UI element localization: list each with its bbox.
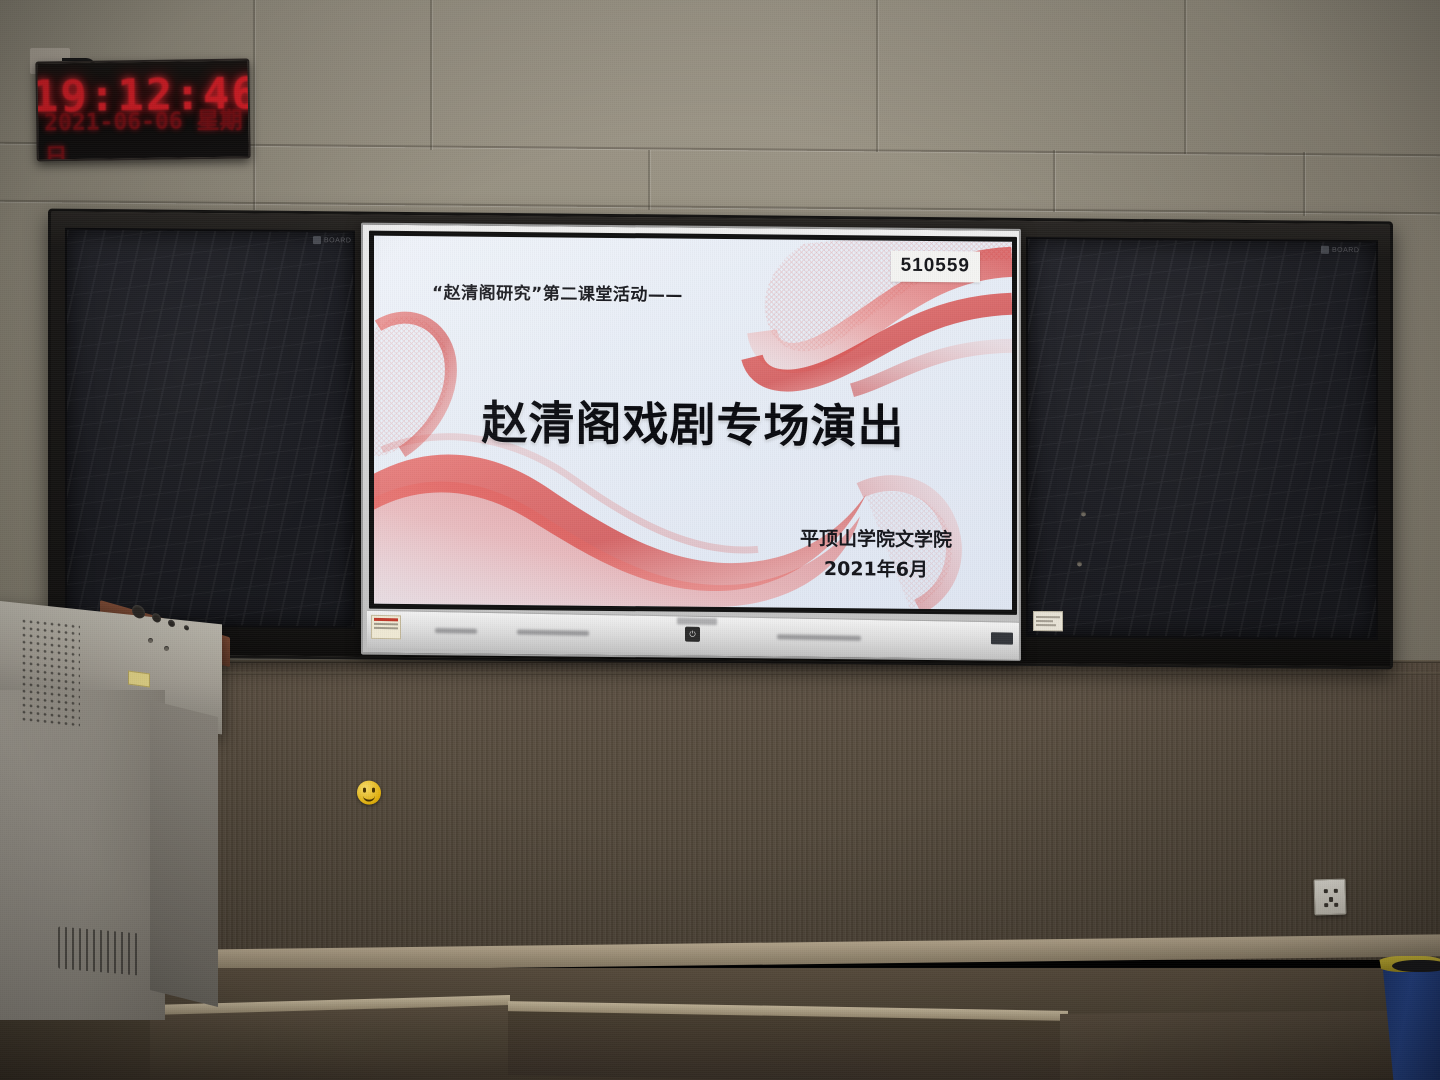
desk-far-right xyxy=(1060,1010,1440,1080)
podium-asset-tag xyxy=(128,670,150,687)
desk-face-left xyxy=(150,1005,510,1080)
podium-speaker-grille-icon xyxy=(22,619,80,729)
panel-power-button[interactable]: ⏻ xyxy=(685,627,700,642)
blackboard-assembly-frame: BOARD BOARD xyxy=(48,209,1393,670)
right-board-brand-icon: BOARD xyxy=(1321,246,1359,254)
led-wall-clock: 19:12:46 2021-06-06 星期日 xyxy=(35,59,250,162)
panel-io-port[interactable] xyxy=(991,632,1013,644)
right-chalkboard[interactable] xyxy=(1026,237,1378,640)
panel-power-label xyxy=(677,617,717,625)
left-board-brand-icon: BOARD xyxy=(313,236,351,244)
wall-power-socket[interactable] xyxy=(1314,879,1347,916)
slide-subtitle: “赵清阁研究”第二课堂活动—— xyxy=(432,278,683,305)
clock-date-display: 2021-06-06 星期日 xyxy=(44,119,249,154)
trash-bin-opening xyxy=(1392,960,1440,972)
right-board-asset-label xyxy=(1033,611,1063,631)
slide-title: 赵清阁戏剧专场演出 xyxy=(374,386,1012,458)
slide-organization: 平顶山学院文学院 xyxy=(800,524,952,552)
podium-side-panel xyxy=(150,700,218,1007)
smiley-sticker xyxy=(357,781,381,805)
presentation-slide: “赵清阁研究”第二课堂活动—— 赵清阁戏剧专场演出 平顶山学院文学院 2021年… xyxy=(374,236,1012,610)
slide-date: 2021年6月 xyxy=(824,554,928,582)
classroom-scene: 19:12:46 2021-06-06 星期日 BOARD BOARD xyxy=(0,0,1440,1080)
slide-code-label: 510559 xyxy=(891,251,980,283)
display-bezel: “赵清阁研究”第二课堂活动—— 赵清阁戏剧专场演出 平顶山学院文学院 2021年… xyxy=(369,231,1017,615)
panel-bottom-toolbar[interactable]: ⏻ xyxy=(367,610,1019,660)
podium-vent-slots xyxy=(58,926,140,975)
interactive-flat-panel[interactable]: “赵清阁研究”第二课堂活动—— 赵清阁戏剧专场演出 平顶山学院文学院 2021年… xyxy=(361,223,1021,661)
panel-asset-sticker xyxy=(371,615,401,640)
desk-face-right xyxy=(508,1011,1068,1080)
left-chalkboard[interactable] xyxy=(65,228,355,629)
